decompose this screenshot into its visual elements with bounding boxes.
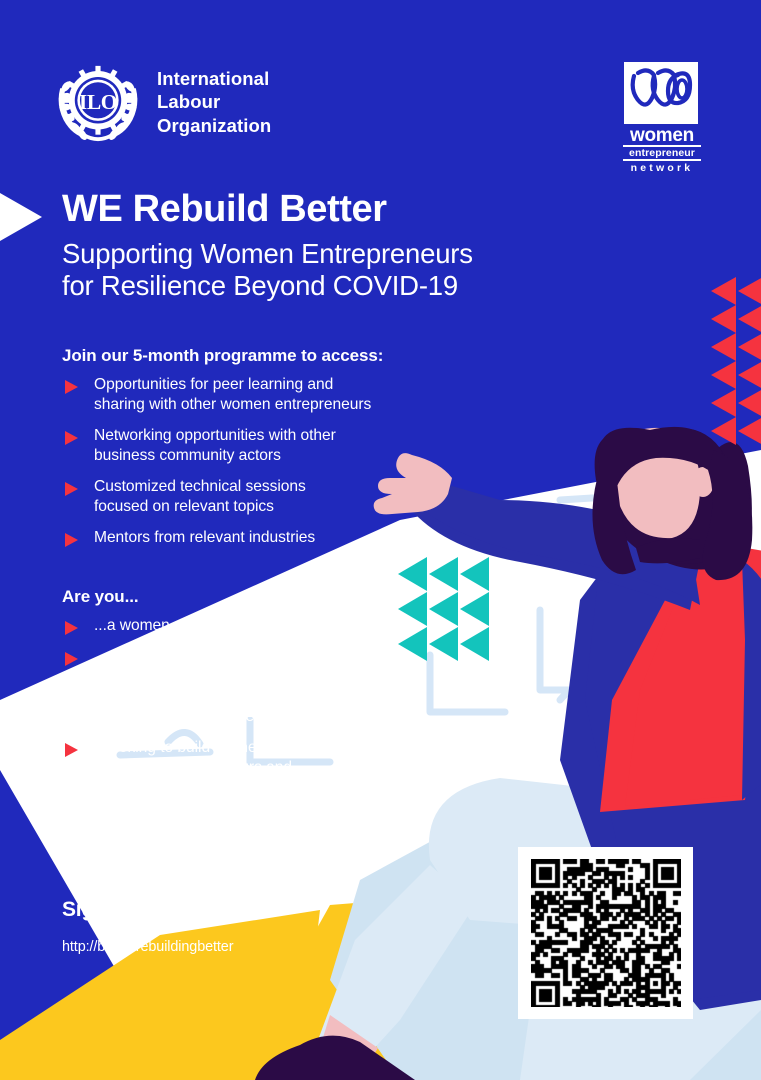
triangle-shape	[738, 417, 761, 445]
triangle-shape	[738, 305, 761, 333]
page-subtitle: Supporting Women Entrepreneurs for Resil…	[62, 238, 482, 302]
list-item-text: Opportunities for peer learning and shar…	[94, 376, 371, 413]
wen-label-entrepreneur: entrepreneur	[623, 147, 701, 161]
areyou-bullet-list: ...a women entrepreneur? ...ready to joi…	[62, 616, 482, 798]
triangle-shape	[738, 389, 761, 417]
list-item: ...a women entrepreneur?	[62, 616, 482, 636]
qr-code-icon[interactable]	[518, 847, 693, 1019]
triangle-shape	[711, 305, 736, 333]
triangle-shape	[738, 361, 761, 389]
bullet-arrow-icon	[65, 652, 78, 666]
signup-heading: Sign up now!	[62, 898, 233, 922]
list-item-text: Mentors from relevant industries	[94, 529, 315, 546]
triangle-shape	[738, 333, 761, 361]
list-item-text: Customized technical sessions focused on…	[94, 478, 306, 515]
list-item-text: ...ready to join a programme that will h…	[94, 648, 311, 725]
signup-block: Sign up now! http://bit.do/rebuildingbet…	[62, 898, 233, 955]
triangle-shape	[711, 389, 736, 417]
triangle-shape	[738, 277, 761, 305]
signup-url-link[interactable]: http://bit.do/rebuildingbetter	[62, 939, 233, 955]
triangle-shape	[711, 417, 736, 445]
wen-label-network: network	[623, 161, 701, 174]
list-item: Customized technical sessions focused on…	[62, 477, 482, 517]
list-item: Opportunities for peer learning and shar…	[62, 375, 482, 415]
svg-text:ILO: ILO	[79, 90, 117, 114]
access-section-heading: Join our 5-month programme to access:	[62, 346, 482, 366]
bullet-arrow-icon	[65, 380, 78, 394]
triangle-shape	[711, 277, 736, 305]
ilo-emblem-icon: ILO	[55, 58, 141, 146]
list-item-text: ...a women entrepreneur?	[94, 617, 271, 634]
bullet-arrow-icon	[65, 621, 78, 635]
areyou-section-heading: Are you...	[62, 587, 482, 607]
red-triangle-pattern-icon	[711, 277, 761, 445]
bullet-arrow-icon	[65, 482, 78, 496]
list-item: ...looking to build connections with oth…	[62, 738, 482, 798]
main-content: WE Rebuild Better Supporting Women Entre…	[62, 190, 482, 809]
list-item-text: Networking opportunities with other busi…	[94, 427, 336, 464]
ilo-logo: ILO International Labour Organization	[55, 58, 271, 146]
list-item: Mentors from relevant industries	[62, 528, 482, 548]
list-item: ...ready to join a programme that will h…	[62, 647, 482, 727]
bullet-arrow-icon	[65, 533, 78, 547]
page-title: WE Rebuild Better	[62, 190, 482, 230]
list-item-text: ...looking to build connections with oth…	[94, 739, 297, 796]
triangle-shape	[711, 361, 736, 389]
access-bullet-list: Opportunities for peer learning and shar…	[62, 375, 482, 548]
list-item: Networking opportunities with other busi…	[62, 426, 482, 466]
ilo-wordmark: International Labour Organization	[157, 67, 271, 137]
bullet-arrow-icon	[65, 431, 78, 445]
poster-root: ILO International Labour Organization wo…	[0, 0, 761, 1080]
triangle-shape	[711, 333, 736, 361]
right-arrow-icon	[0, 193, 42, 241]
wen-w-monogram-icon	[624, 62, 698, 124]
wen-logo: women entrepreneur network	[622, 62, 712, 174]
bullet-arrow-icon	[65, 743, 78, 757]
wen-label-women: women	[623, 126, 701, 147]
